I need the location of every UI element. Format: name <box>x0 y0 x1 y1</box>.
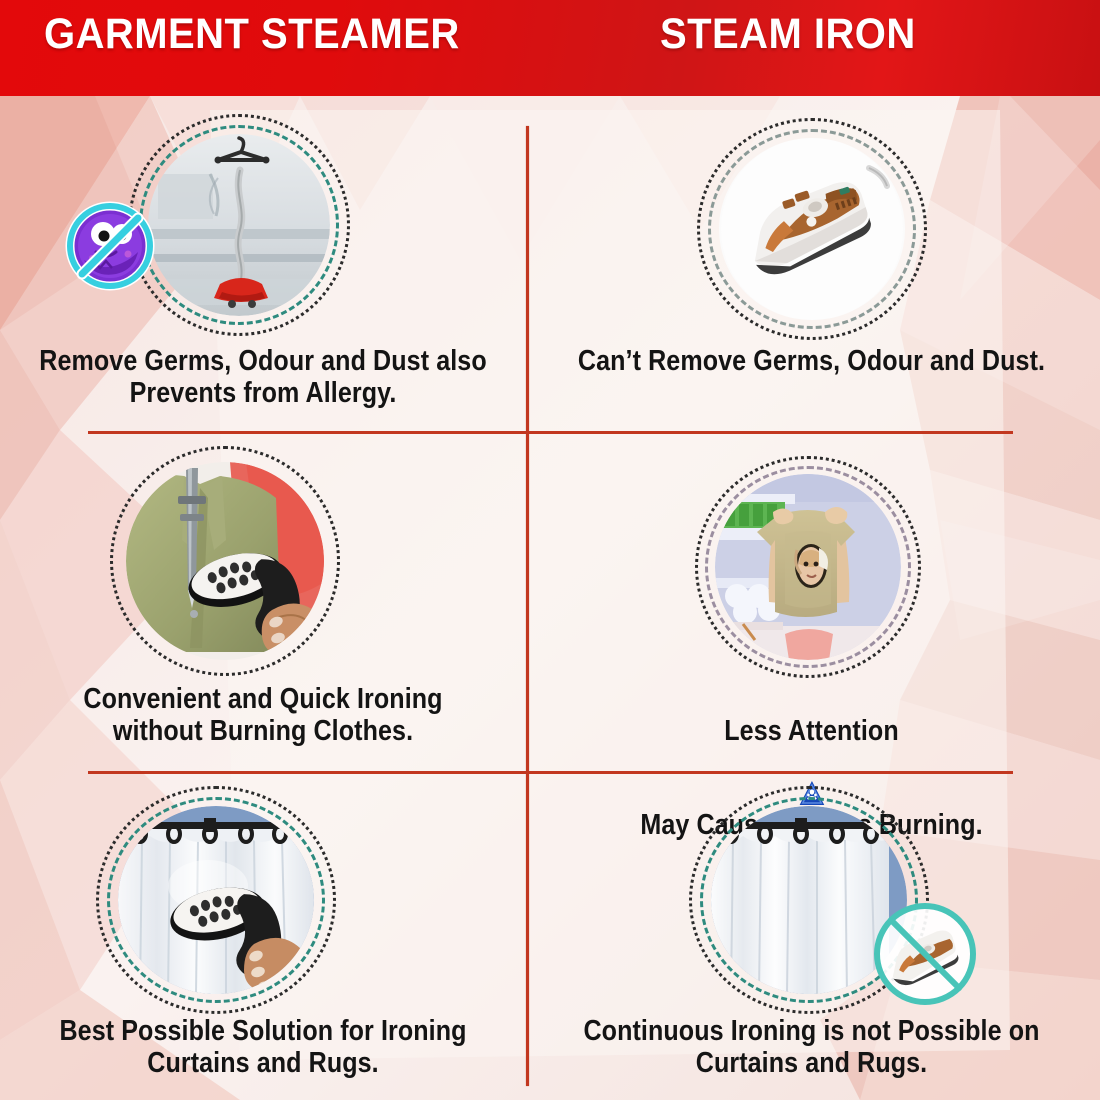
cell-r1-right: Can’t Remove Germs, Odour and Dust. <box>529 96 1100 431</box>
column-title-steam-iron: STEAM IRON <box>660 10 916 59</box>
no-germs-badge <box>62 198 158 294</box>
caption-r2-left: Convenient and Quick Ironing without Bur… <box>32 684 495 748</box>
handheld-steamer-on-curtains-photo <box>118 806 314 994</box>
image-frame-r3-left <box>96 786 336 1014</box>
burnt-tshirt-hole-photo <box>715 474 901 660</box>
cell-r2-left: Convenient and Quick Ironing without Bur… <box>0 434 526 771</box>
cell-r3-right: Continuous Ironing is not Possible on Cu… <box>529 774 1100 1100</box>
standing-garment-steamer-photo <box>148 134 330 316</box>
image-frame-r2-right <box>695 456 921 678</box>
header-banner: GARMENT STEAMER STEAM IRON <box>0 0 1100 96</box>
image-frame-r1-right <box>697 118 927 340</box>
caption-r3-right: Continuous Ironing is not Possible on Cu… <box>560 1016 1062 1080</box>
image-frame-r2-left <box>110 446 340 676</box>
image-frame-r1-left <box>128 114 350 336</box>
steam-iron-photo <box>719 138 905 320</box>
warning-triangle-icon <box>798 748 824 774</box>
cell-r3-left: Best Possible Solution for Ironing Curta… <box>0 774 526 1100</box>
caption-r1-left: Remove Germs, Odour and Dust also Preven… <box>32 346 495 410</box>
caption-r1-right: Can’t Remove Germs, Odour and Dust. <box>560 346 1062 378</box>
no-iron-badge <box>869 898 981 1010</box>
handheld-steamer-on-blazer-photo <box>126 462 324 660</box>
caption-r3-left: Best Possible Solution for Ironing Curta… <box>32 1016 495 1080</box>
comparison-infographic: GARMENT STEAMER STEAM IRON <box>0 0 1100 1100</box>
column-title-garment-steamer: GARMENT STEAMER <box>44 10 460 59</box>
cell-r1-left: Remove Germs, Odour and Dust also Preven… <box>0 96 526 431</box>
caption-r2-right-before: Less Attention <box>724 715 898 747</box>
cell-r2-right: Less Attention May Cause Clothes Burning… <box>529 434 1100 771</box>
